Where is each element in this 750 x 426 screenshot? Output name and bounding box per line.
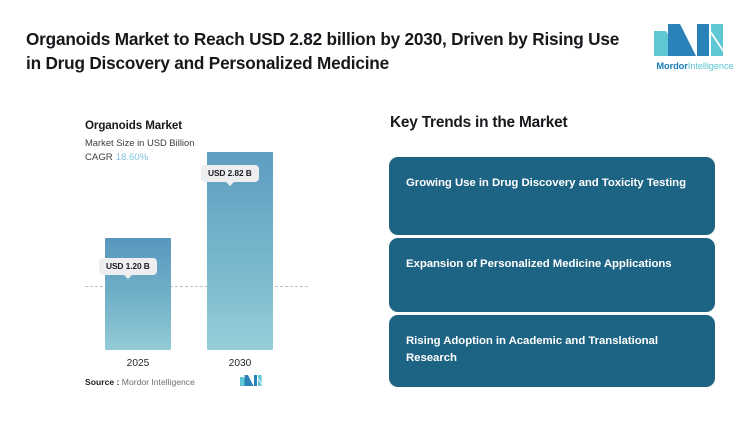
trend-card[interactable]: Expansion of Personalized Medicine Appli…: [389, 238, 715, 312]
trend-card[interactable]: Growing Use in Drug Discovery and Toxici…: [389, 157, 715, 235]
key-trends-panel: Key Trends in the Market Growing Use in …: [389, 105, 715, 405]
chart-plot-area: USD 1.20 B USD 2.82 B 2025 2030: [60, 105, 365, 405]
source-value: Mordor Intelligence: [122, 377, 195, 387]
x-axis-tick-2025: 2025: [105, 358, 171, 369]
page-title: Organoids Market to Reach USD 2.82 billi…: [26, 27, 626, 76]
chart-source: Source : Mordor Intelligence: [85, 377, 195, 387]
trend-card-text: Expansion of Personalized Medicine Appli…: [406, 256, 698, 273]
value-label-2025: USD 1.20 B: [99, 258, 157, 275]
source-label: Source :: [85, 377, 119, 387]
value-label-2030: USD 2.82 B: [201, 165, 259, 182]
trend-card-text: Rising Adoption in Academic and Translat…: [406, 333, 698, 367]
key-trends-title: Key Trends in the Market: [390, 114, 567, 132]
trend-card-text: Growing Use in Drug Discovery and Toxici…: [406, 175, 698, 192]
logo-word-mordor: Mordor: [656, 61, 687, 71]
mordor-intelligence-logo: MordorIntelligence: [652, 22, 738, 78]
mordor-logo-mark-small: [240, 374, 262, 387]
bar-2025[interactable]: [105, 238, 171, 350]
mordor-logo-wordmark: MordorIntelligence: [652, 61, 738, 71]
x-axis-tick-2030: 2030: [207, 358, 273, 369]
logo-word-intelligence: Intelligence: [688, 61, 734, 71]
mordor-logo-mark: [652, 22, 738, 58]
header: Organoids Market to Reach USD 2.82 billi…: [0, 0, 750, 96]
trend-card[interactable]: Rising Adoption in Academic and Translat…: [389, 315, 715, 387]
chart-panel: Organoids Market Market Size in USD Bill…: [60, 105, 365, 405]
